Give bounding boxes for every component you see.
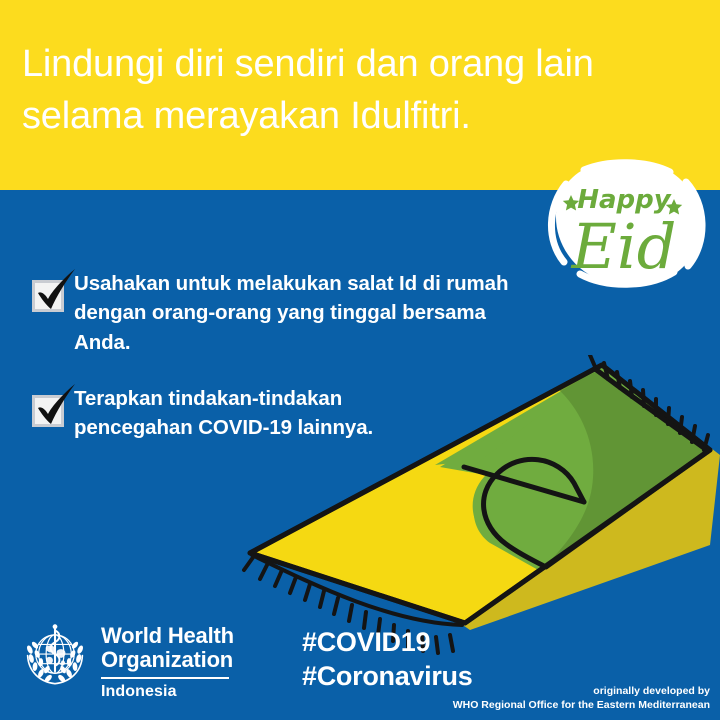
who-wordmark: World Health Organization Indonesia <box>101 620 234 701</box>
checkbox-checked[interactable] <box>28 391 74 435</box>
who-emblem-icon <box>18 620 92 694</box>
who-name-line2: Organization <box>101 648 234 672</box>
checkbox-checked[interactable] <box>28 276 74 320</box>
who-country-label: Indonesia <box>101 683 234 701</box>
list-item-text: Usahakan untuk melakukan salat Id di rum… <box>74 264 508 357</box>
who-name-line1: World Health <box>101 624 234 648</box>
badge-eid-text: Eid <box>571 210 677 283</box>
happy-eid-badge: Happy Eid <box>540 158 710 288</box>
check-icon <box>28 266 80 318</box>
list-item: Usahakan untuk melakukan salat Id di rum… <box>28 264 558 357</box>
who-logo: World Health Organization Indonesia <box>18 620 234 701</box>
list-item-text: Terapkan tindakan-tindakan pencegahan CO… <box>74 379 373 443</box>
list-item: Terapkan tindakan-tindakan pencegahan CO… <box>28 379 558 443</box>
page-title: Lindungi diri sendiri dan orang lain sel… <box>22 38 712 143</box>
advice-list: Usahakan untuk melakukan salat Id di rum… <box>28 264 558 465</box>
credit-note: originally developed by WHO Regional Off… <box>453 684 710 712</box>
divider <box>101 677 229 679</box>
poster-canvas: Lindungi diri sendiri dan orang lain sel… <box>0 0 720 720</box>
check-icon <box>28 381 80 433</box>
hashtags: #COVID19 #Coronavirus <box>302 626 472 694</box>
